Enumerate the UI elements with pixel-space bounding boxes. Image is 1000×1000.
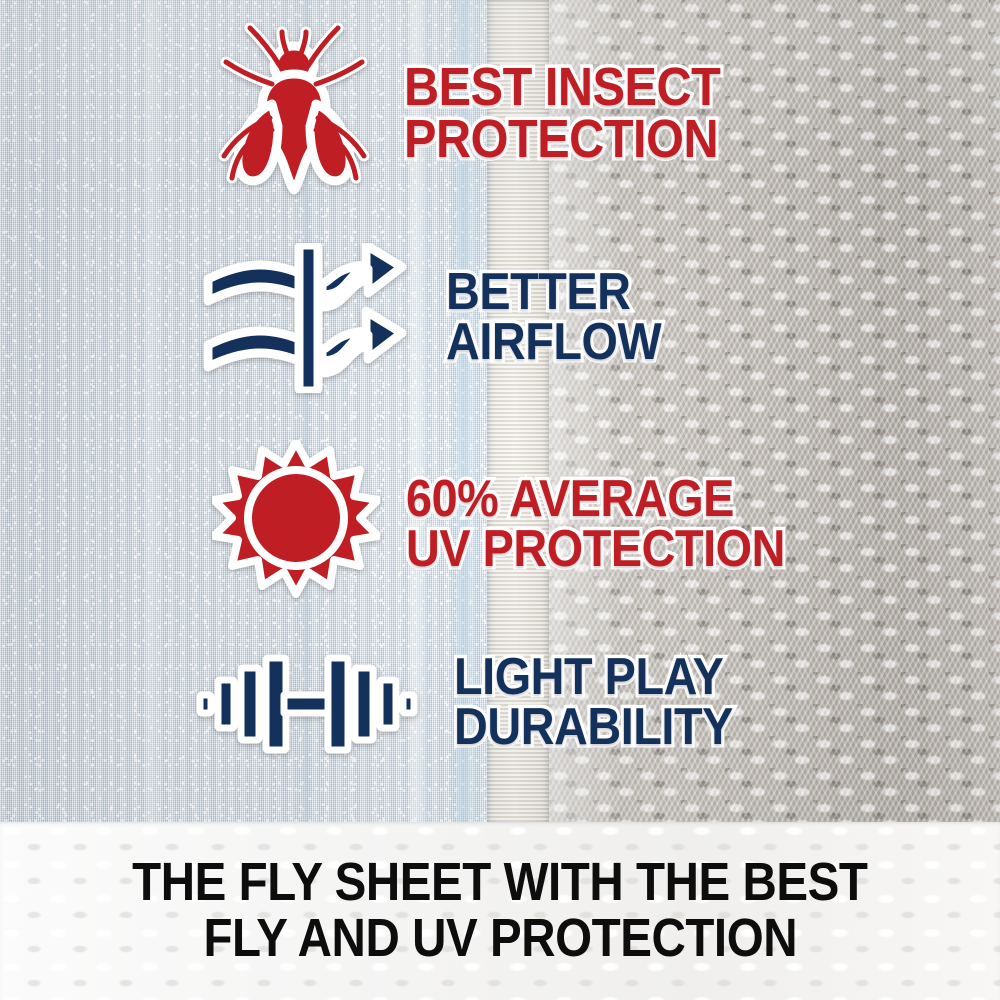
feature-caption-airflow: BETTER AIRFLOW bbox=[446, 268, 661, 368]
banner-headline-line2: FLY AND UV PROTECTION bbox=[203, 911, 797, 967]
feature-row-uv: 60% AVERAGE UV PROTECTION bbox=[212, 440, 827, 608]
feature-row-durability: LIGHT PLAY DURABILITY bbox=[196, 652, 764, 756]
feature-caption-durability: LIGHT PLAY DURABILITY bbox=[454, 653, 733, 753]
feature-row-airflow: BETTER AIRFLOW bbox=[196, 243, 685, 393]
feature-caption-insect: BEST INSECT PROTECTION bbox=[404, 62, 720, 166]
dumbbell-icon bbox=[196, 652, 418, 756]
sun-icon bbox=[212, 440, 380, 608]
bottom-banner: THE FLY SHEET WITH THE BEST FLY AND UV P… bbox=[0, 822, 1000, 1000]
feature-caption-uv: 60% AVERAGE UV PROTECTION bbox=[406, 475, 785, 575]
feature-list: BEST INSECT PROTECTION bbox=[0, 0, 1000, 822]
infographic-canvas: BEST INSECT PROTECTION bbox=[0, 0, 1000, 1000]
feature-row-insect: BEST INSECT PROTECTION bbox=[210, 22, 756, 204]
banner-headline-line1: THE FLY SHEET WITH THE BEST bbox=[132, 855, 867, 911]
airflow-icon bbox=[196, 243, 414, 393]
fly-icon bbox=[210, 22, 378, 204]
